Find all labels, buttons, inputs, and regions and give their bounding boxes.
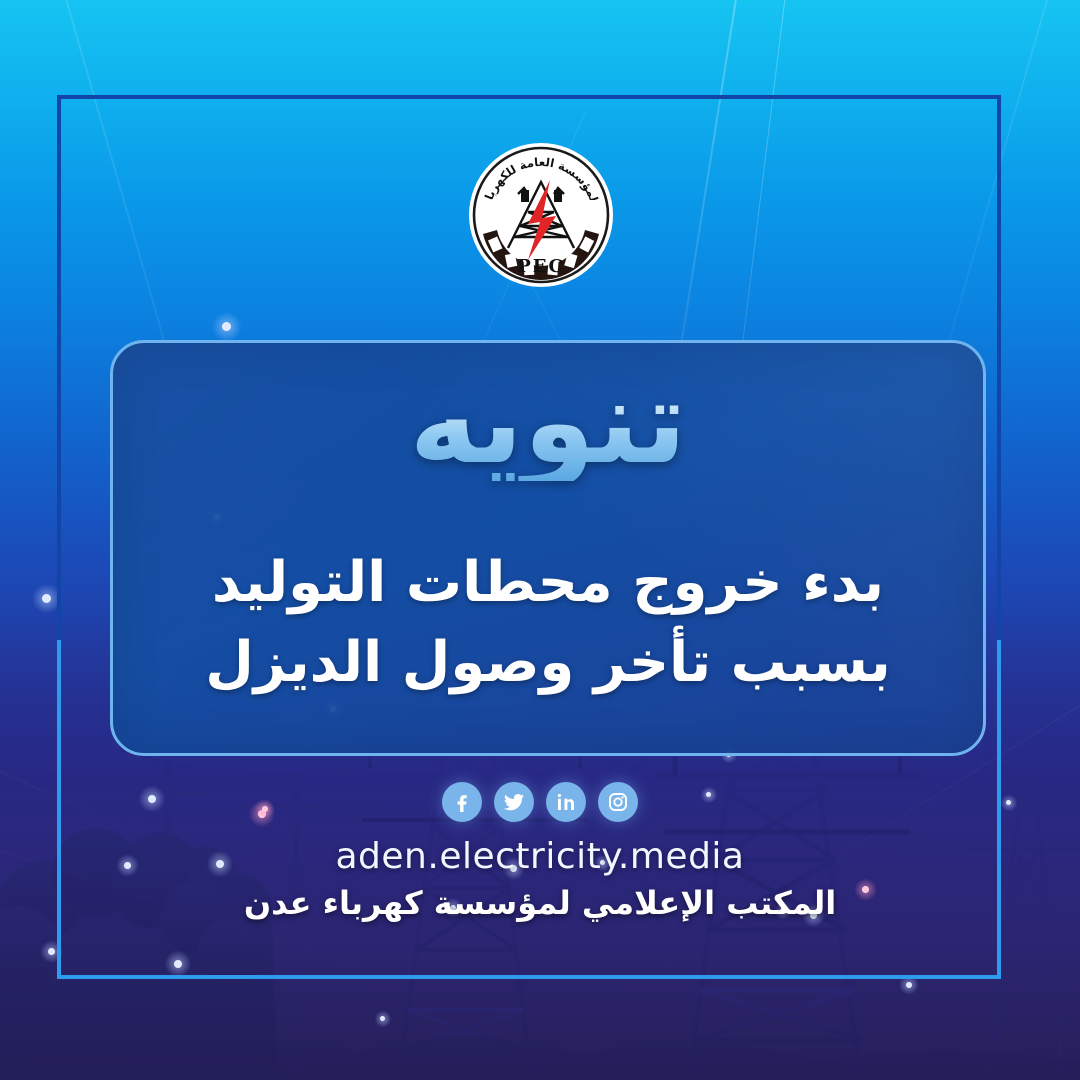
announcement-body: بدء خروج محطات التوليد بسبب تأخر وصول ال…	[153, 543, 943, 702]
facebook-icon[interactable]	[442, 782, 482, 822]
headline-tanweeh: تنويه	[113, 365, 983, 481]
announcement-card: تنويه بدء خروج محطات التوليد بسبب تأخر و…	[110, 340, 986, 756]
twitter-icon[interactable]	[494, 782, 534, 822]
social-icon-row	[0, 782, 1080, 822]
social-handle[interactable]: aden.electricity.media	[0, 836, 1080, 877]
linkedin-icon[interactable]	[546, 782, 586, 822]
instagram-icon[interactable]	[598, 782, 638, 822]
announcement-body-line-1: بدء خروج محطات التوليد	[153, 543, 943, 623]
media-office-label: المكتب الإعلامي لمؤسسة كهرباء عدن	[0, 884, 1080, 922]
announcement-body-line-2: بسبب تأخر وصول الديزل	[153, 623, 943, 703]
announcement-poster: المؤسسة العامة للكهرباء	[0, 0, 1080, 1080]
pec-logo: المؤسسة العامة للكهرباء	[468, 142, 614, 288]
svg-text:PEC: PEC	[517, 256, 565, 277]
